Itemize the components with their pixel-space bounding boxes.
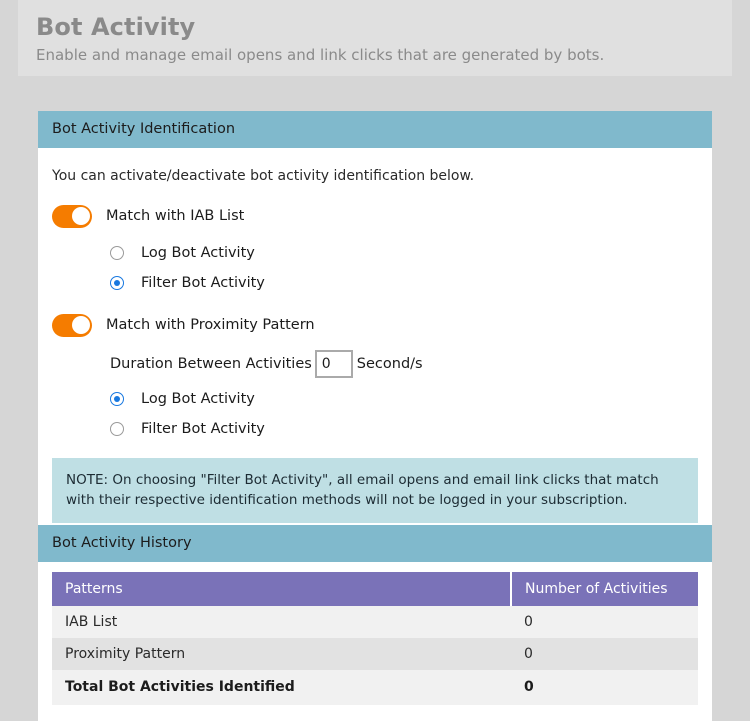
iab-option-log-row[interactable]: Log Bot Activity: [110, 238, 698, 268]
identification-panel-header: Bot Activity Identification: [38, 111, 712, 148]
toggle-knob-icon: [72, 207, 90, 225]
page-body: Bot Activity Identification You can acti…: [18, 76, 732, 692]
proximity-toggle-row: Match with Proximity Pattern: [52, 311, 698, 339]
cell-pattern: Proximity Pattern: [52, 638, 511, 670]
table-header-row: Patterns Number of Activities: [52, 572, 698, 606]
cell-count: 0: [511, 606, 698, 638]
iab-toggle-row: Match with IAB List: [52, 202, 698, 230]
iab-log-radio-label: Log Bot Activity: [141, 245, 255, 261]
duration-input[interactable]: [315, 350, 353, 378]
bot-activity-history-panel: Bot Activity History Patterns Number of …: [38, 525, 712, 721]
table-row: Proximity Pattern 0: [52, 638, 698, 670]
history-panel-header: Bot Activity History: [38, 525, 712, 562]
column-header-patterns: Patterns: [52, 572, 511, 606]
proximity-option-log-row[interactable]: Log Bot Activity: [110, 384, 698, 414]
duration-row: Duration Between Activities Second/s: [110, 347, 698, 381]
iab-filter-radio-label: Filter Bot Activity: [141, 275, 265, 291]
cell-count-total: 0: [511, 670, 698, 705]
cell-pattern: IAB List: [52, 606, 511, 638]
identification-intro-text: You can activate/deactivate bot activity…: [52, 166, 698, 186]
proximity-toggle-label: Match with Proximity Pattern: [106, 317, 315, 333]
iab-log-radio[interactable]: [110, 246, 124, 260]
duration-label: Duration Between Activities: [110, 356, 312, 372]
table-row-total: Total Bot Activities Identified 0: [52, 670, 698, 705]
page-title: Bot Activity: [36, 12, 732, 42]
iab-toggle-label: Match with IAB List: [106, 208, 244, 224]
iab-option-filter-row[interactable]: Filter Bot Activity: [110, 268, 698, 298]
toggle-knob-icon: [72, 316, 90, 334]
proximity-filter-radio[interactable]: [110, 422, 124, 436]
page-subtitle: Enable and manage email opens and link c…: [36, 44, 732, 66]
cell-pattern-total: Total Bot Activities Identified: [52, 670, 511, 705]
duration-suffix-label: Second/s: [357, 356, 423, 372]
bot-activity-identification-panel: Bot Activity Identification You can acti…: [38, 111, 712, 539]
page-card: Bot Activity Enable and manage email ope…: [18, 0, 732, 692]
iab-list-toggle[interactable]: [52, 205, 92, 228]
proximity-filter-radio-label: Filter Bot Activity: [141, 421, 265, 437]
iab-filter-radio[interactable]: [110, 276, 124, 290]
identification-panel-body: You can activate/deactivate bot activity…: [38, 148, 712, 539]
proximity-pattern-toggle[interactable]: [52, 314, 92, 337]
note-box: NOTE: On choosing "Filter Bot Activity",…: [52, 458, 698, 523]
proximity-option-filter-row[interactable]: Filter Bot Activity: [110, 414, 698, 444]
column-header-number-of-activities: Number of Activities: [511, 572, 698, 606]
table-row: IAB List 0: [52, 606, 698, 638]
proximity-log-radio[interactable]: [110, 392, 124, 406]
history-panel-body: Patterns Number of Activities IAB List 0…: [38, 562, 712, 721]
proximity-log-radio-label: Log Bot Activity: [141, 391, 255, 407]
cell-count: 0: [511, 638, 698, 670]
page-header: Bot Activity Enable and manage email ope…: [18, 0, 732, 76]
bot-activity-history-table: Patterns Number of Activities IAB List 0…: [52, 572, 698, 705]
